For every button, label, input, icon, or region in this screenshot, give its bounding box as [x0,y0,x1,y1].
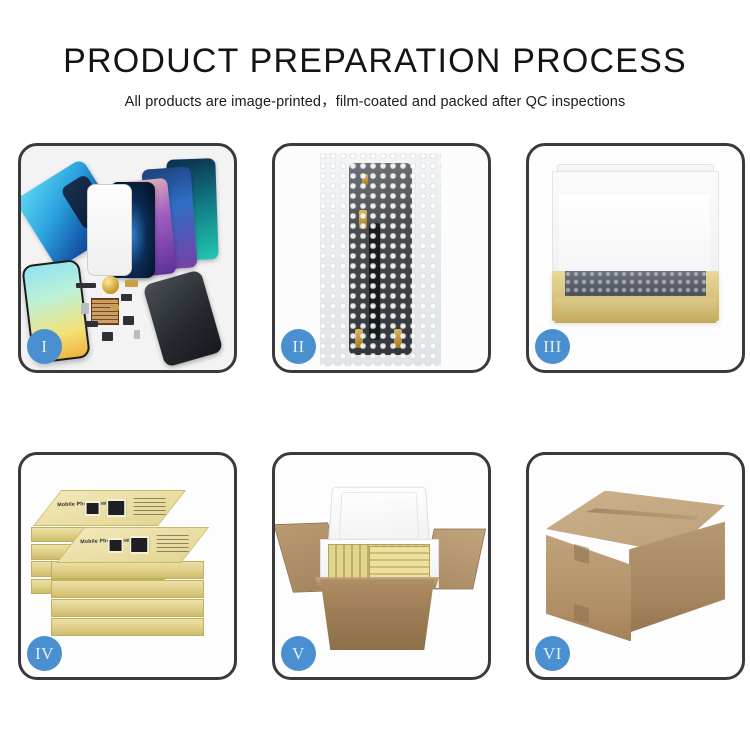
box-spec-lines-image [134,498,166,517]
kraft-tray-front-image [555,298,717,323]
kraft-box-top-image: Mobile Phone Spare Parts [56,527,210,563]
bubble-wrapped-contents-image [565,271,706,296]
chip-image [134,330,140,339]
page-subtitle: All products are image-printed，film-coat… [0,90,750,111]
box-window-image [130,535,150,553]
step-badge-1: I [27,329,62,364]
box-spec-lines-image [157,535,189,554]
step-badge-6: VI [535,636,570,671]
process-step-grid: I II [18,143,732,680]
teardown-phone-image [142,269,223,367]
chip-image [121,294,132,301]
step-badge-5: V [281,636,316,671]
kraft-box-image [51,599,204,616]
process-step-1: I [18,143,237,373]
header: PRODUCT PREPARATION PROCESS All products… [0,0,750,111]
foam-sheet-image [559,195,710,276]
kraft-box-image [51,561,204,578]
box-window-image [84,502,100,517]
bubble-texture [320,153,441,366]
box-window-image [108,538,124,553]
process-step-6: VI [526,452,745,680]
kraft-box-image [51,580,204,597]
process-step-5: V [272,452,491,680]
product-preparation-infographic: PRODUCT PREPARATION PROCESS All products… [0,0,750,750]
inner-kraft-boxes-image [369,546,431,579]
step-badge-4: IV [27,636,62,671]
bubble-bag-image [320,153,441,366]
chip-image [110,305,119,309]
chip-image [76,283,95,289]
process-step-2: II [272,143,491,373]
chip-image [81,303,90,314]
chip-image [102,332,113,341]
process-step-3: III [526,143,745,373]
page-title: PRODUCT PREPARATION PROCESS [0,42,750,81]
box-window-image [107,499,127,517]
kraft-box-stack-image: Mobile Phone Spare Parts Mobile Phone Sp… [27,482,223,655]
kraft-box-top-image: Mobile Phone Spare Parts [33,490,187,526]
tempered-glass-image [87,184,132,276]
step-badge-3: III [535,329,570,364]
step-badge-2: II [281,329,316,364]
chip-image [85,321,98,328]
chip-image [123,316,134,325]
foam-lid-image [328,487,430,546]
carton-body-image [315,579,439,650]
process-step-4: Mobile Phone Spare Parts Mobile Phone Sp… [18,452,237,680]
speaker-module-image [102,276,119,294]
kraft-box-image [51,618,204,635]
chip-image [125,280,138,287]
